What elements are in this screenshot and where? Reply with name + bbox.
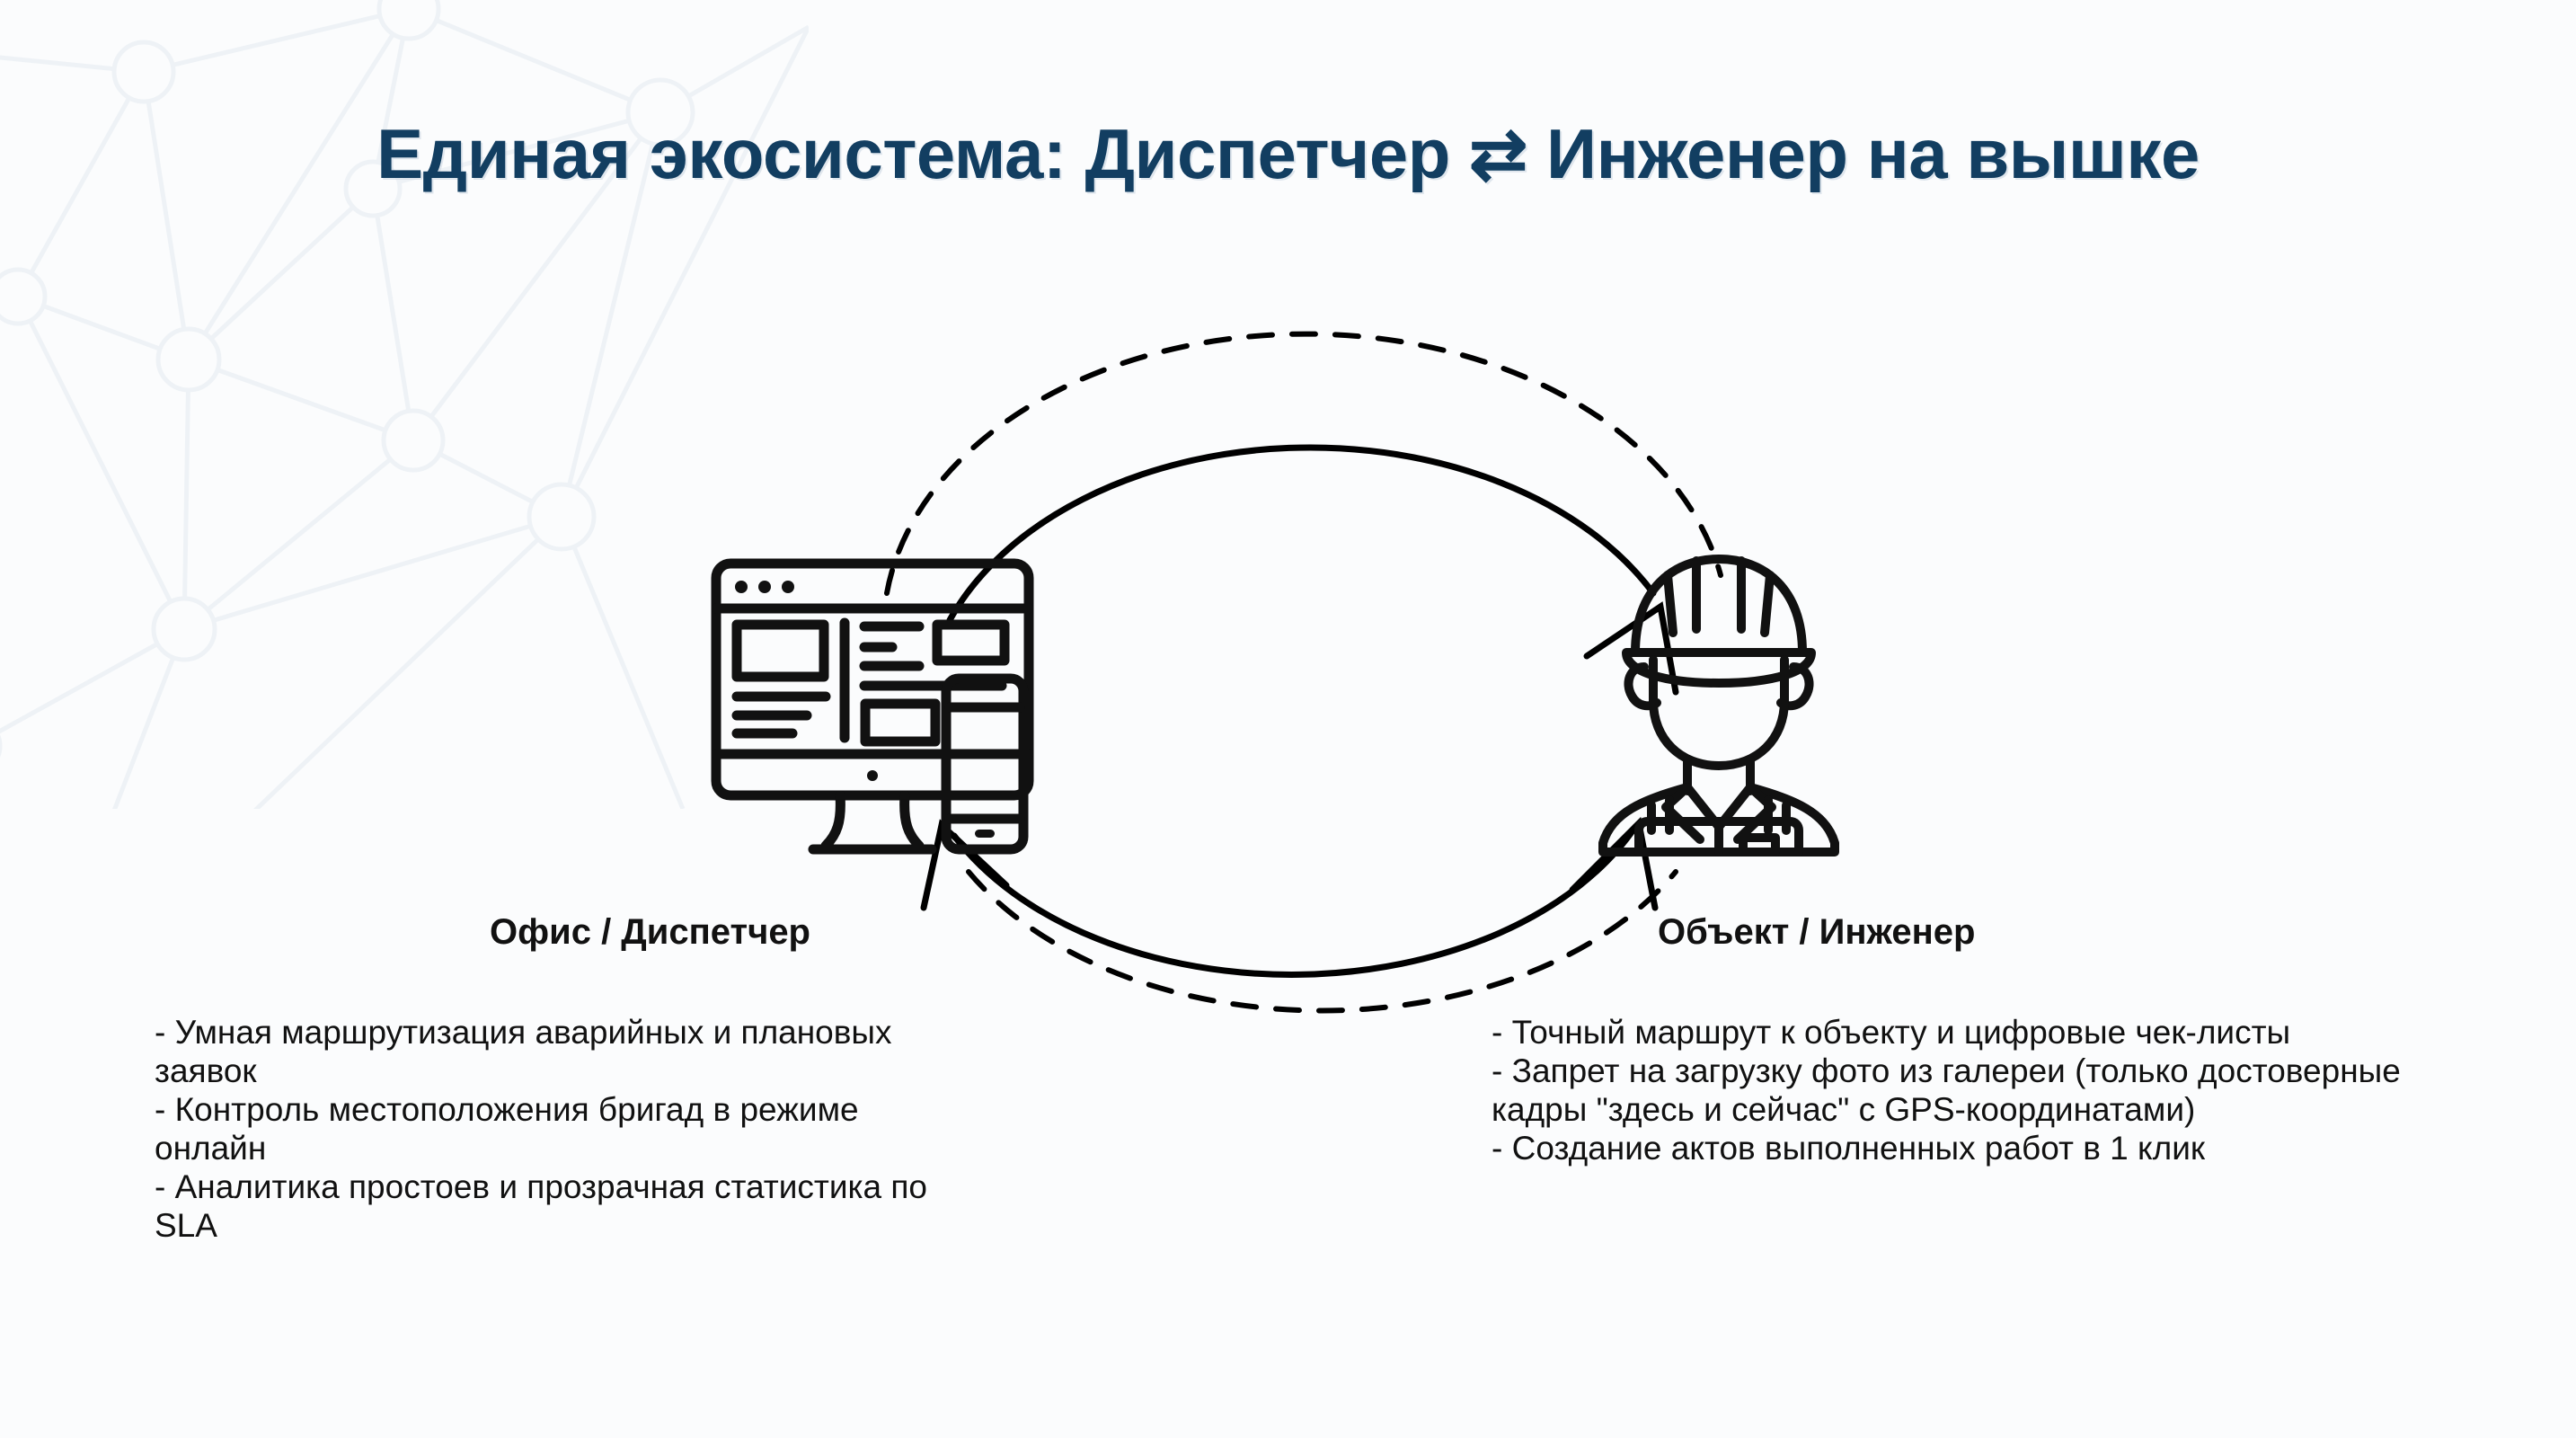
vest-pocket	[1743, 838, 1775, 852]
engineer-avatar-icon	[1580, 546, 1858, 863]
window-dots	[735, 581, 794, 593]
hard-hat-dome	[1635, 559, 1802, 652]
page-title-text: Единая экосистема: Диспетчер ⇄ Инженер н…	[376, 113, 2200, 195]
office-bullet-list: - Умная маршрутизация аварийных и планов…	[155, 1014, 963, 1245]
list-item: - Контроль местоположения бригад в режим…	[155, 1091, 963, 1168]
engineer-node-caption: Объект / Инженер	[1658, 912, 1975, 953]
content-block-bottom-right	[865, 704, 935, 741]
content-block-left	[737, 625, 824, 677]
list-item: - Создание актов выполненных работ в 1 к…	[1492, 1130, 2480, 1168]
content-block-top-right	[937, 625, 1005, 661]
list-item: - Запрет на загрузку фото из галереи (то…	[1492, 1052, 2480, 1130]
list-item: - Точный маршрут к объекту и цифровые че…	[1492, 1014, 2480, 1052]
power-indicator	[867, 770, 878, 781]
list-item: - Аналитика простоев и прозрачная статис…	[155, 1168, 963, 1246]
page-title: Единая экосистема: Диспетчер ⇄ Инженер н…	[0, 113, 2576, 195]
office-dispatcher-icon	[705, 553, 1056, 863]
office-node-caption: Офис / Диспетчер	[490, 912, 810, 953]
monitor-stand	[826, 795, 919, 846]
engineer-bullet-list: - Точный маршрут к объекту и цифровые че…	[1492, 1014, 2480, 1168]
phone-home-button	[975, 830, 995, 838]
list-item: - Умная маршрутизация аварийных и планов…	[155, 1014, 963, 1091]
